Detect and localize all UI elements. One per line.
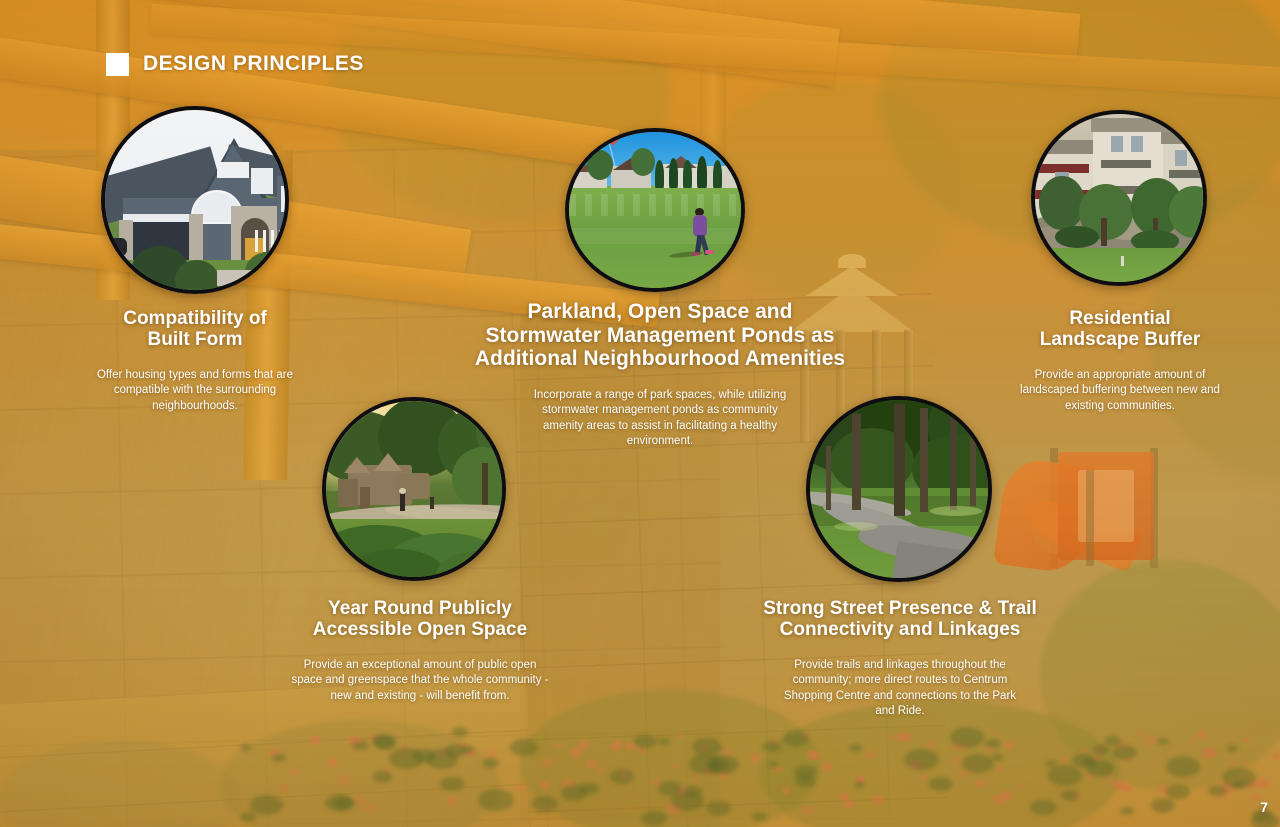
principle-block-year-round-open-space: Year Round Publicly Accessible Open Spac… <box>290 598 550 704</box>
principle-title: Year Round Publicly Accessible Open Spac… <box>290 598 550 641</box>
principle-photo-parkland-open-space <box>565 128 745 292</box>
principle-title: Parkland, Open Space and Stormwater Mana… <box>450 300 870 371</box>
square-marker-icon <box>106 53 129 76</box>
principle-body: Offer housing types and forms that are c… <box>85 368 305 415</box>
principle-title: Residential Landscape Buffer <box>1005 308 1235 351</box>
principle-photo-residential-landscape-buffer <box>1031 110 1207 286</box>
principle-block-parkland-open-space: Parkland, Open Space and Stormwater Mana… <box>450 300 870 450</box>
principle-block-street-presence-trail: Strong Street Presence & Trail Connectiv… <box>740 598 1060 720</box>
principle-title: Compatibility of Built Form <box>85 308 305 351</box>
principle-body: Provide an exceptional amount of public … <box>290 658 550 705</box>
principle-block-residential-landscape-buffer: Residential Landscape Buffer Provide an … <box>1005 308 1235 414</box>
principle-body: Incorporate a range of park spaces, whil… <box>525 388 795 450</box>
page-number: 7 <box>1260 799 1268 815</box>
principle-body: Provide an appropriate amount of landsca… <box>1005 368 1235 415</box>
principle-body: Provide trails and linkages throughout t… <box>775 658 1025 720</box>
page-header: DESIGN PRINCIPLES <box>106 52 364 76</box>
principle-title: Strong Street Presence & Trail Connectiv… <box>740 598 1060 641</box>
principle-photo-compatibility-built-form <box>101 106 289 294</box>
principle-block-compatibility-built-form: Compatibility of Built Form Offer housin… <box>85 308 305 414</box>
page-title: DESIGN PRINCIPLES <box>143 52 364 76</box>
